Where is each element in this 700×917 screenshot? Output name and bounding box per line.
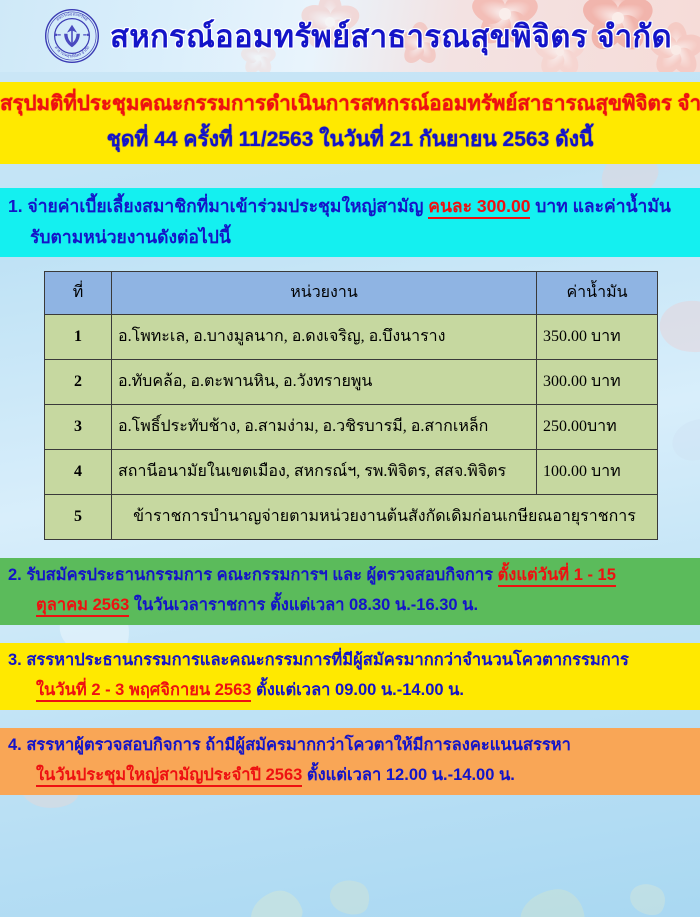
item-4-band: 4. สรรหาผู้ตรวจสอบกิจการ ถ้ามีผู้สมัครมา…: [0, 728, 700, 795]
cell-no: 5: [45, 494, 112, 539]
table-row: 2อ.ทับคล้อ, อ.ตะพานหิน, อ.วังทรายพูน300.…: [45, 359, 658, 404]
item-4-text-b: ตั้งแต่เวลา 12.00 น.-14.00 น.: [302, 766, 515, 784]
item-2-text-b: ในวันเวลาราชการ ตั้งแต่เวลา 08.30 น.-16.…: [129, 596, 478, 614]
item-2-band: 2. รับสมัครประธานกรรมการ คณะกรรมการฯ และ…: [0, 558, 700, 625]
agency-fee-table: ที่ หน่วยงาน ค่าน้ำมัน 1อ.โพทะเล, อ.บางม…: [44, 271, 658, 540]
item-3-date-highlight: ในวันที่ 2 - 3 พฤศจิกายน 2563: [36, 681, 251, 702]
item-2-date-highlight-2: ตุลาคม 2563: [36, 596, 129, 617]
leaf-decoration-icon: [245, 885, 307, 917]
item-1-band: 1. จ่ายค่าเบี้ยเลี้ยงสมาชิกที่มาเข้าร่วม…: [0, 188, 700, 257]
cell-unit: อ.ทับคล้อ, อ.ตะพานหิน, อ.วังทรายพูน: [112, 359, 537, 404]
table-row: 1อ.โพทะเล, อ.บางมูลนาก, อ.ดงเจริญ, อ.บึง…: [45, 314, 658, 359]
summary-title-line-1: สรุปมติที่ประชุมคณะกรรมการดำเนินการสหกรณ…: [0, 92, 700, 116]
page-title: สหกรณ์ออมทรัพย์สาธารณสุขพิจิตร จำกัด: [110, 11, 672, 61]
cell-fee: 350.00 บาท: [537, 314, 658, 359]
leaf-decoration-icon: [625, 877, 671, 917]
cell-unit: ข้าราชการบำนาญจ่ายตามหน่วยงานต้นสังกัดเด…: [112, 494, 658, 539]
item-2-line-1: 2. รับสมัครประธานกรรมการ คณะกรรมการฯ และ…: [0, 566, 700, 585]
item-3-line-2: ในวันที่ 2 - 3 พฤศจิกายน 2563 ตั้งแต่เวล…: [0, 681, 700, 700]
item-3-line-1: 3. สรรหาประธานกรรมการและคณะกรรมการที่มีผ…: [0, 651, 700, 670]
item-1-line-1: 1. จ่ายค่าเบี้ยเลี้ยงสมาชิกที่มาเข้าร่วม…: [0, 196, 700, 216]
table-body: 1อ.โพทะเล, อ.บางมูลนาก, อ.ดงเจริญ, อ.บึง…: [45, 314, 658, 539]
table-row: 4สถานีอนามัยในเขตเมือง, สหกรณ์ฯ, รพ.พิจิ…: [45, 449, 658, 494]
header-banner: สหกรณ์ออมทรัพย์ สาธารณสุขพิจิตร จำกัด สห…: [0, 0, 700, 72]
cell-no: 3: [45, 404, 112, 449]
item-3-band: 3. สรรหาประธานกรรมการและคณะกรรมการที่มีผ…: [0, 643, 700, 710]
table-row: 3อ.โพธิ์ประทับช้าง, อ.สามง่าม, อ.วชิรบาร…: [45, 404, 658, 449]
item-1-allowance-highlight: คนละ 300.00: [428, 196, 530, 219]
item-2-text-a: 2. รับสมัครประธานกรรมการ คณะกรรมการฯ และ…: [8, 566, 498, 584]
item-4-line-1: 4. สรรหาผู้ตรวจสอบกิจการ ถ้ามีผู้สมัครมา…: [0, 736, 700, 755]
cell-fee: 300.00 บาท: [537, 359, 658, 404]
table-head: ที่ หน่วยงาน ค่าน้ำมัน: [45, 271, 658, 314]
item-4-line-2: ในวันประชุมใหญ่สามัญประจำปี 2563 ตั้งแต่…: [0, 766, 700, 785]
header-fee: ค่าน้ำมัน: [537, 271, 658, 314]
item-1-text-b: บาท และค่าน้ำมัน: [530, 196, 670, 216]
cooperative-seal-icon: สหกรณ์ออมทรัพย์ สาธารณสุขพิจิตร จำกัด: [44, 8, 100, 64]
cell-unit: สถานีอนามัยในเขตเมือง, สหกรณ์ฯ, รพ.พิจิต…: [112, 449, 537, 494]
agency-fee-table-container: ที่ หน่วยงาน ค่าน้ำมัน 1อ.โพทะเล, อ.บางม…: [0, 271, 700, 540]
summary-title-band: สรุปมติที่ประชุมคณะกรรมการดำเนินการสหกรณ…: [0, 82, 700, 164]
leaf-decoration-icon: [325, 874, 375, 917]
table-header-row: ที่ หน่วยงาน ค่าน้ำมัน: [45, 271, 658, 314]
cell-unit: อ.โพธิ์ประทับช้าง, อ.สามง่าม, อ.วชิรบารม…: [112, 404, 537, 449]
summary-title-line-2: ชุดที่ 44 ครั้งที่ 11/2563 ในวันที่ 21 ก…: [0, 128, 700, 152]
item-2-line-2: ตุลาคม 2563 ในวันเวลาราชการ ตั้งแต่เวลา …: [0, 596, 700, 615]
header-no: ที่: [45, 271, 112, 314]
leaf-decoration-icon: [517, 886, 587, 917]
table-row: 5ข้าราชการบำนาญจ่ายตามหน่วยงานต้นสังกัดเ…: [45, 494, 658, 539]
cell-no: 2: [45, 359, 112, 404]
item-4-date-highlight: ในวันประชุมใหญ่สามัญประจำปี 2563: [36, 766, 302, 787]
cell-unit: อ.โพทะเล, อ.บางมูลนาก, อ.ดงเจริญ, อ.บึงน…: [112, 314, 537, 359]
item-1-line-2: รับตามหน่วยงานดังต่อไปนี้: [0, 227, 700, 247]
item-3-text-b: ตั้งแต่เวลา 09.00 น.-14.00 น.: [251, 681, 464, 699]
header-unit: หน่วยงาน: [112, 271, 537, 314]
item-1-text-a: 1. จ่ายค่าเบี้ยเลี้ยงสมาชิกที่มาเข้าร่วม…: [8, 196, 428, 216]
cell-fee: 250.00บาท: [537, 404, 658, 449]
cell-no: 4: [45, 449, 112, 494]
cell-no: 1: [45, 314, 112, 359]
item-2-date-highlight-1: ตั้งแต่วันที่ 1 - 15: [498, 566, 616, 587]
cell-fee: 100.00 บาท: [537, 449, 658, 494]
